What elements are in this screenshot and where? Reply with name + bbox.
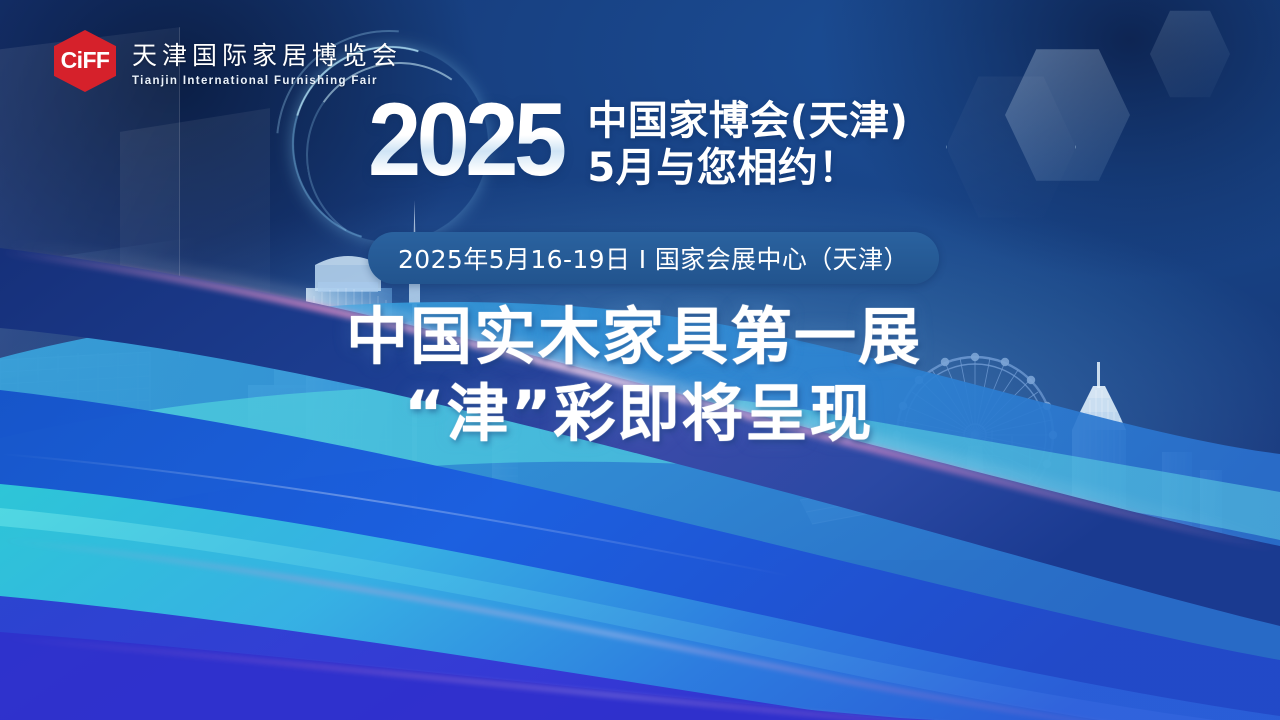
brand-name-cn: 天津国际家居博览会 [132,36,402,72]
title-row: 2025 中国家博会(天津) 5月与您相约！ [368,96,908,190]
year-number: 2025 [368,96,566,185]
banner-canvas: CiFF 天津国际家居博览会 Tianjin International Fur… [0,0,1280,720]
title-block: 2025 中国家博会(天津) 5月与您相约！ [368,96,908,190]
brand-name-block: 天津国际家居博览会 Tianjin International Furnishi… [132,36,402,87]
title-lines: 中国家博会(天津) 5月与您相约！ [587,96,908,190]
headline-line-2: “津”彩即将呈现 [404,379,922,448]
brand-logo[interactable]: CiFF 天津国际家居博览会 Tianjin International Fur… [54,30,402,92]
title-line-2: 5月与您相约！ [587,147,908,190]
date-venue-text: 2025年5月16-19日 Ⅰ 国家会展中心（天津） [398,240,909,276]
ciff-hexagon-logo-icon: CiFF [54,30,116,92]
ciff-logo-text: CiFF [61,47,110,74]
headline-line-1: 中国实木家具第一展 [346,302,922,371]
headline-block: 中国实木家具第一展 “津”彩即将呈现 [346,302,922,449]
brand-name-en: Tianjin International Furnishing Fair [132,75,402,87]
date-venue-pill: 2025年5月16-19日 Ⅰ 国家会展中心（天津） [368,232,939,284]
title-line-1: 中国家博会(天津) [587,100,908,143]
